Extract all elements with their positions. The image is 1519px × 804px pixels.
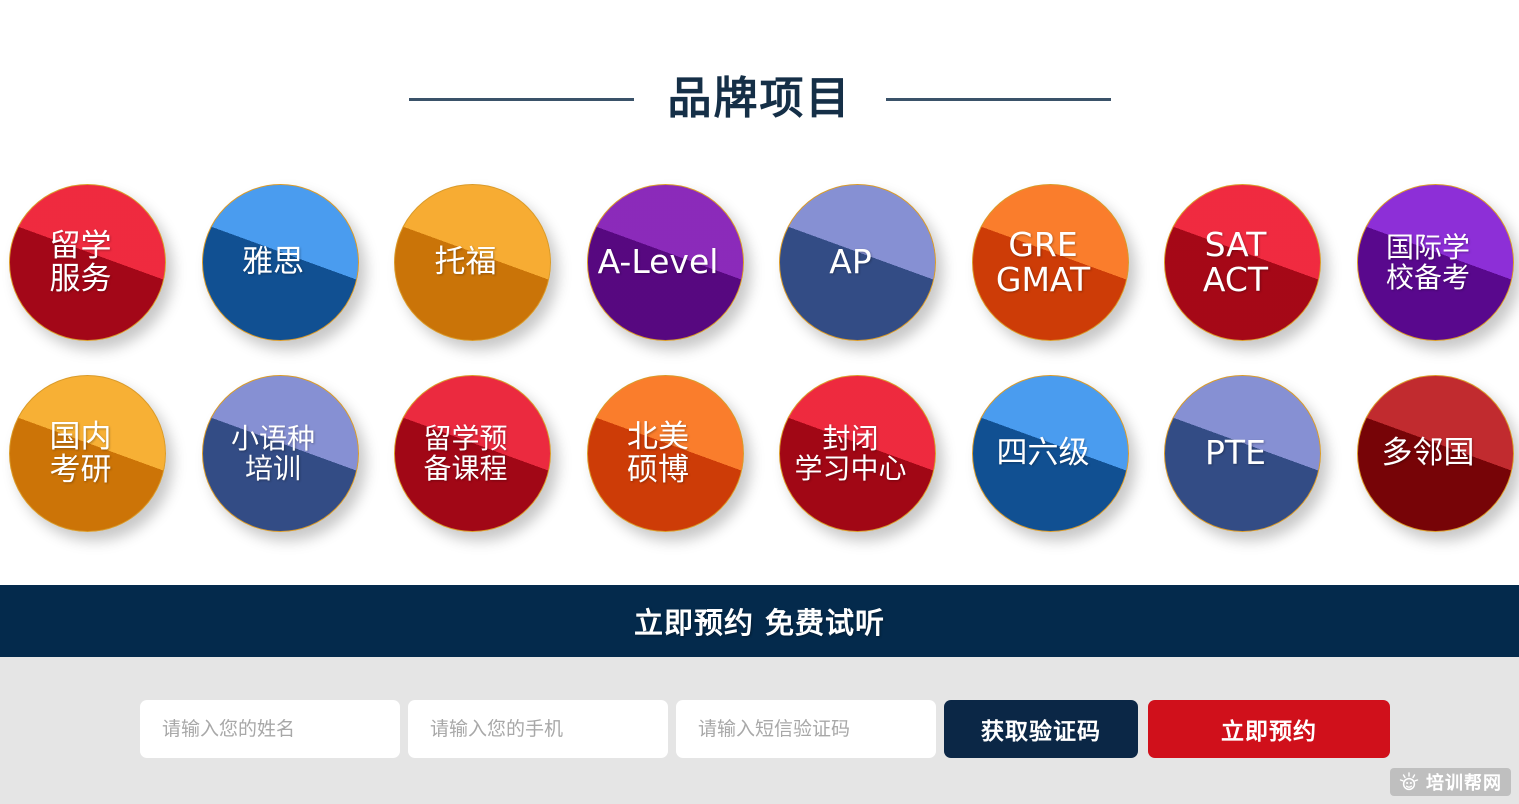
program-bubble[interactable]: 国际学 校备考 [1357, 184, 1514, 341]
booking-form: 获取验证码 立即预约 [140, 700, 1390, 758]
program-bubble[interactable]: SAT ACT [1164, 184, 1321, 341]
program-bubble[interactable]: 四六级 [972, 375, 1129, 532]
program-bubble-label: 国内 考研 [50, 421, 126, 487]
program-bubble[interactable]: 小语种 培训 [202, 375, 359, 532]
submit-booking-button[interactable]: 立即预约 [1148, 700, 1390, 758]
program-bubble[interactable]: GRE GMAT [972, 184, 1129, 341]
name-input[interactable] [140, 700, 400, 758]
program-bubble-label: SAT ACT [1203, 228, 1282, 298]
sms-code-input[interactable] [676, 700, 936, 758]
sun-face-icon [1399, 772, 1419, 792]
program-bubble-label: 国际学 校备考 [1386, 233, 1484, 292]
program-bubble[interactable]: A-Level [587, 184, 744, 341]
program-bubble-label: 封闭 学习中心 [794, 424, 920, 483]
program-bubble-label: 北美 硕博 [627, 421, 703, 487]
program-bubble[interactable]: 封闭 学习中心 [779, 375, 936, 532]
title-rule-left [409, 98, 634, 101]
program-bubble-label: 留学 服务 [50, 230, 126, 296]
program-bubble[interactable]: 留学预 备课程 [394, 375, 551, 532]
program-bubble-label: 托福 [435, 246, 511, 279]
program-bubble-label: A-Level [598, 245, 733, 280]
get-verification-code-button[interactable]: 获取验证码 [944, 700, 1138, 758]
program-bubble-label: 留学预 备课程 [423, 424, 521, 483]
program-row-2: 国内 考研小语种 培训留学预 备课程北美 硕博封闭 学习中心四六级PTE多邻国 [0, 367, 1519, 558]
program-bubble[interactable]: AP [779, 184, 936, 341]
program-grid: 留学 服务雅思托福A-LevelAPGRE GMATSAT ACT国际学 校备考… [0, 176, 1519, 558]
program-bubble-label: 小语种 培训 [231, 424, 329, 483]
program-bubble[interactable]: 雅思 [202, 184, 359, 341]
phone-input[interactable] [408, 700, 668, 758]
watermark: 培训帮网 [1390, 768, 1511, 796]
cta-banner: 立即预约 免费试听 [0, 585, 1519, 657]
program-bubble[interactable]: 国内 考研 [9, 375, 166, 532]
program-bubble-label: PTE [1205, 436, 1280, 471]
program-bubble-label: GRE GMAT [996, 228, 1104, 298]
program-bubble-label: 多邻国 [1382, 437, 1489, 470]
program-bubble-label: 雅思 [242, 246, 318, 279]
program-bubble[interactable]: 留学 服务 [9, 184, 166, 341]
booking-form-strip: 获取验证码 立即预约 [0, 657, 1519, 804]
watermark-label: 培训帮网 [1426, 769, 1502, 795]
page-title: 品牌项目 [668, 77, 852, 121]
title-rule-right [886, 98, 1111, 101]
program-bubble[interactable]: PTE [1164, 375, 1321, 532]
page-header: 品牌项目 [0, 64, 1519, 134]
cta-banner-title: 立即预约 免费试听 [634, 600, 885, 642]
program-bubble[interactable]: 北美 硕博 [587, 375, 744, 532]
program-row-1: 留学 服务雅思托福A-LevelAPGRE GMATSAT ACT国际学 校备考 [0, 176, 1519, 367]
program-bubble[interactable]: 多邻国 [1357, 375, 1514, 532]
program-bubble-label: 四六级 [997, 437, 1104, 470]
program-bubble-label: AP [829, 245, 885, 280]
program-bubble[interactable]: 托福 [394, 184, 551, 341]
